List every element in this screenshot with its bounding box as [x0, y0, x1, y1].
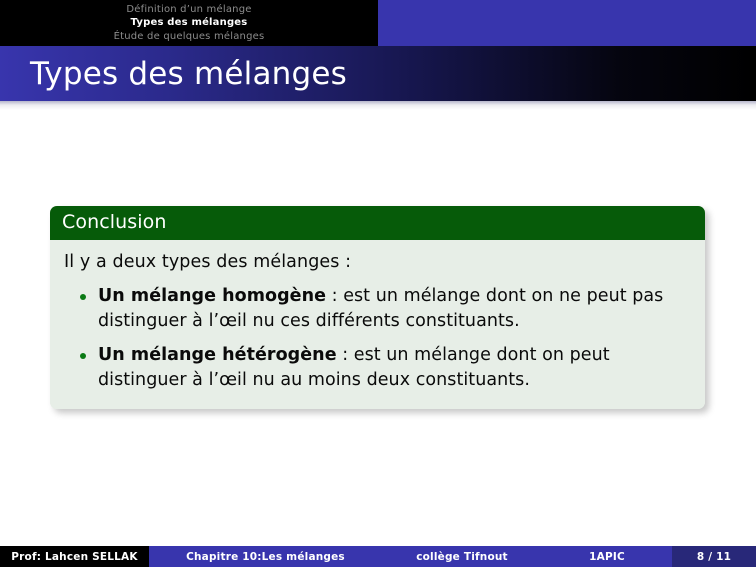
bullet-term: Un mélange hétérogène	[98, 345, 337, 365]
list-item: Un mélange homogène : est un mélange don…	[64, 284, 691, 334]
slide-body: Conclusion Il y a deux types des mélange…	[0, 110, 756, 540]
conclusion-block: Conclusion Il y a deux types des mélange…	[50, 206, 705, 409]
title-bar-fade	[0, 101, 756, 110]
slide-title-bar: Types des mélanges	[0, 46, 756, 101]
nav-item-types[interactable]: Types des mélanges	[131, 16, 248, 30]
footer-level: 1APIC	[542, 546, 672, 567]
list-item: Un mélange hétérogène : est un mélange d…	[64, 343, 691, 393]
footer-page-number: 8 / 11	[672, 546, 756, 567]
navigation-section-list: Définition d’un mélange Types des mélang…	[0, 0, 378, 46]
block-title: Conclusion	[50, 206, 705, 240]
block-body: Il y a deux types des mélanges : Un méla…	[50, 240, 705, 409]
footer-author: Prof: Lahcen SELLAK	[0, 546, 149, 567]
nav-item-etude[interactable]: Étude de quelques mélanges	[114, 30, 265, 44]
page-title: Types des mélanges	[30, 56, 347, 92]
footer-chapter: Chapitre 10:Les mélanges	[149, 546, 382, 567]
bullet-list: Un mélange homogène : est un mélange don…	[64, 284, 691, 393]
bullet-dot-icon	[80, 353, 86, 359]
nav-item-definition[interactable]: Définition d’un mélange	[126, 3, 251, 17]
block-intro-text: Il y a deux types des mélanges :	[64, 250, 691, 275]
bullet-term: Un mélange homogène	[98, 286, 326, 306]
bullet-dot-icon	[80, 294, 86, 300]
footer-school: collège Tifnout	[382, 546, 542, 567]
navigation-bar: Définition d’un mélange Types des mélang…	[0, 0, 756, 46]
presentation-slide: Définition d’un mélange Types des mélang…	[0, 0, 756, 567]
slide-footer: Prof: Lahcen SELLAK Chapitre 10:Les méla…	[0, 546, 756, 567]
